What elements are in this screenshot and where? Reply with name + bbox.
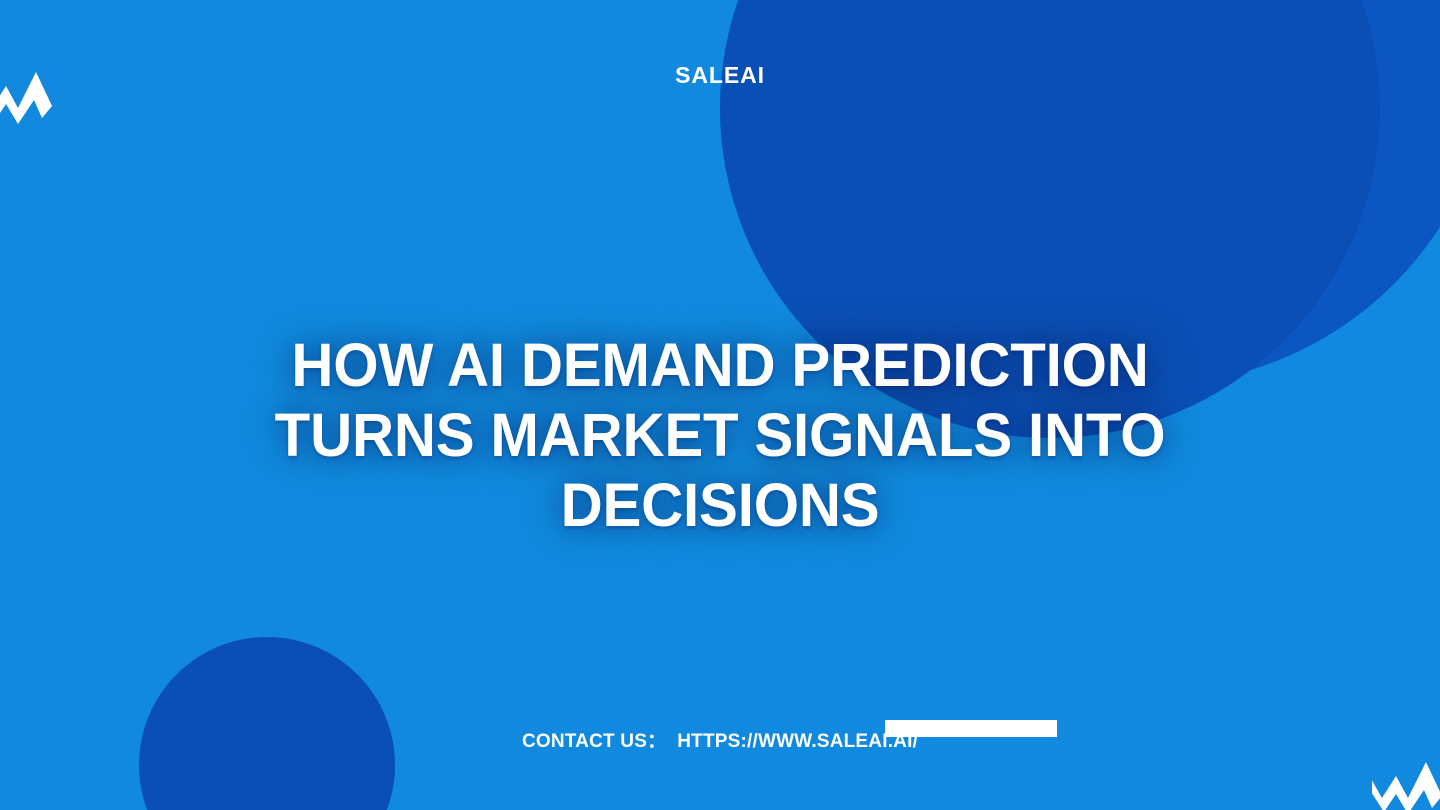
bottom-left-circle xyxy=(139,637,395,810)
page-title: HOW AI DEMAND PREDICTION TURNS MARKET SI… xyxy=(214,330,1226,540)
slide-canvas: SALEAI HOW AI DEMAND PREDICTION TURNS MA… xyxy=(0,0,1440,810)
top-right-overlap-circle xyxy=(805,0,1440,385)
brand-wordmark: SALEAI xyxy=(0,62,1440,90)
contact-footer-text: CONTACT US： HTTPS://WWW.SALEAI.AI/ xyxy=(0,729,1440,755)
saleai-zigzag-mark-icon xyxy=(1372,752,1440,810)
